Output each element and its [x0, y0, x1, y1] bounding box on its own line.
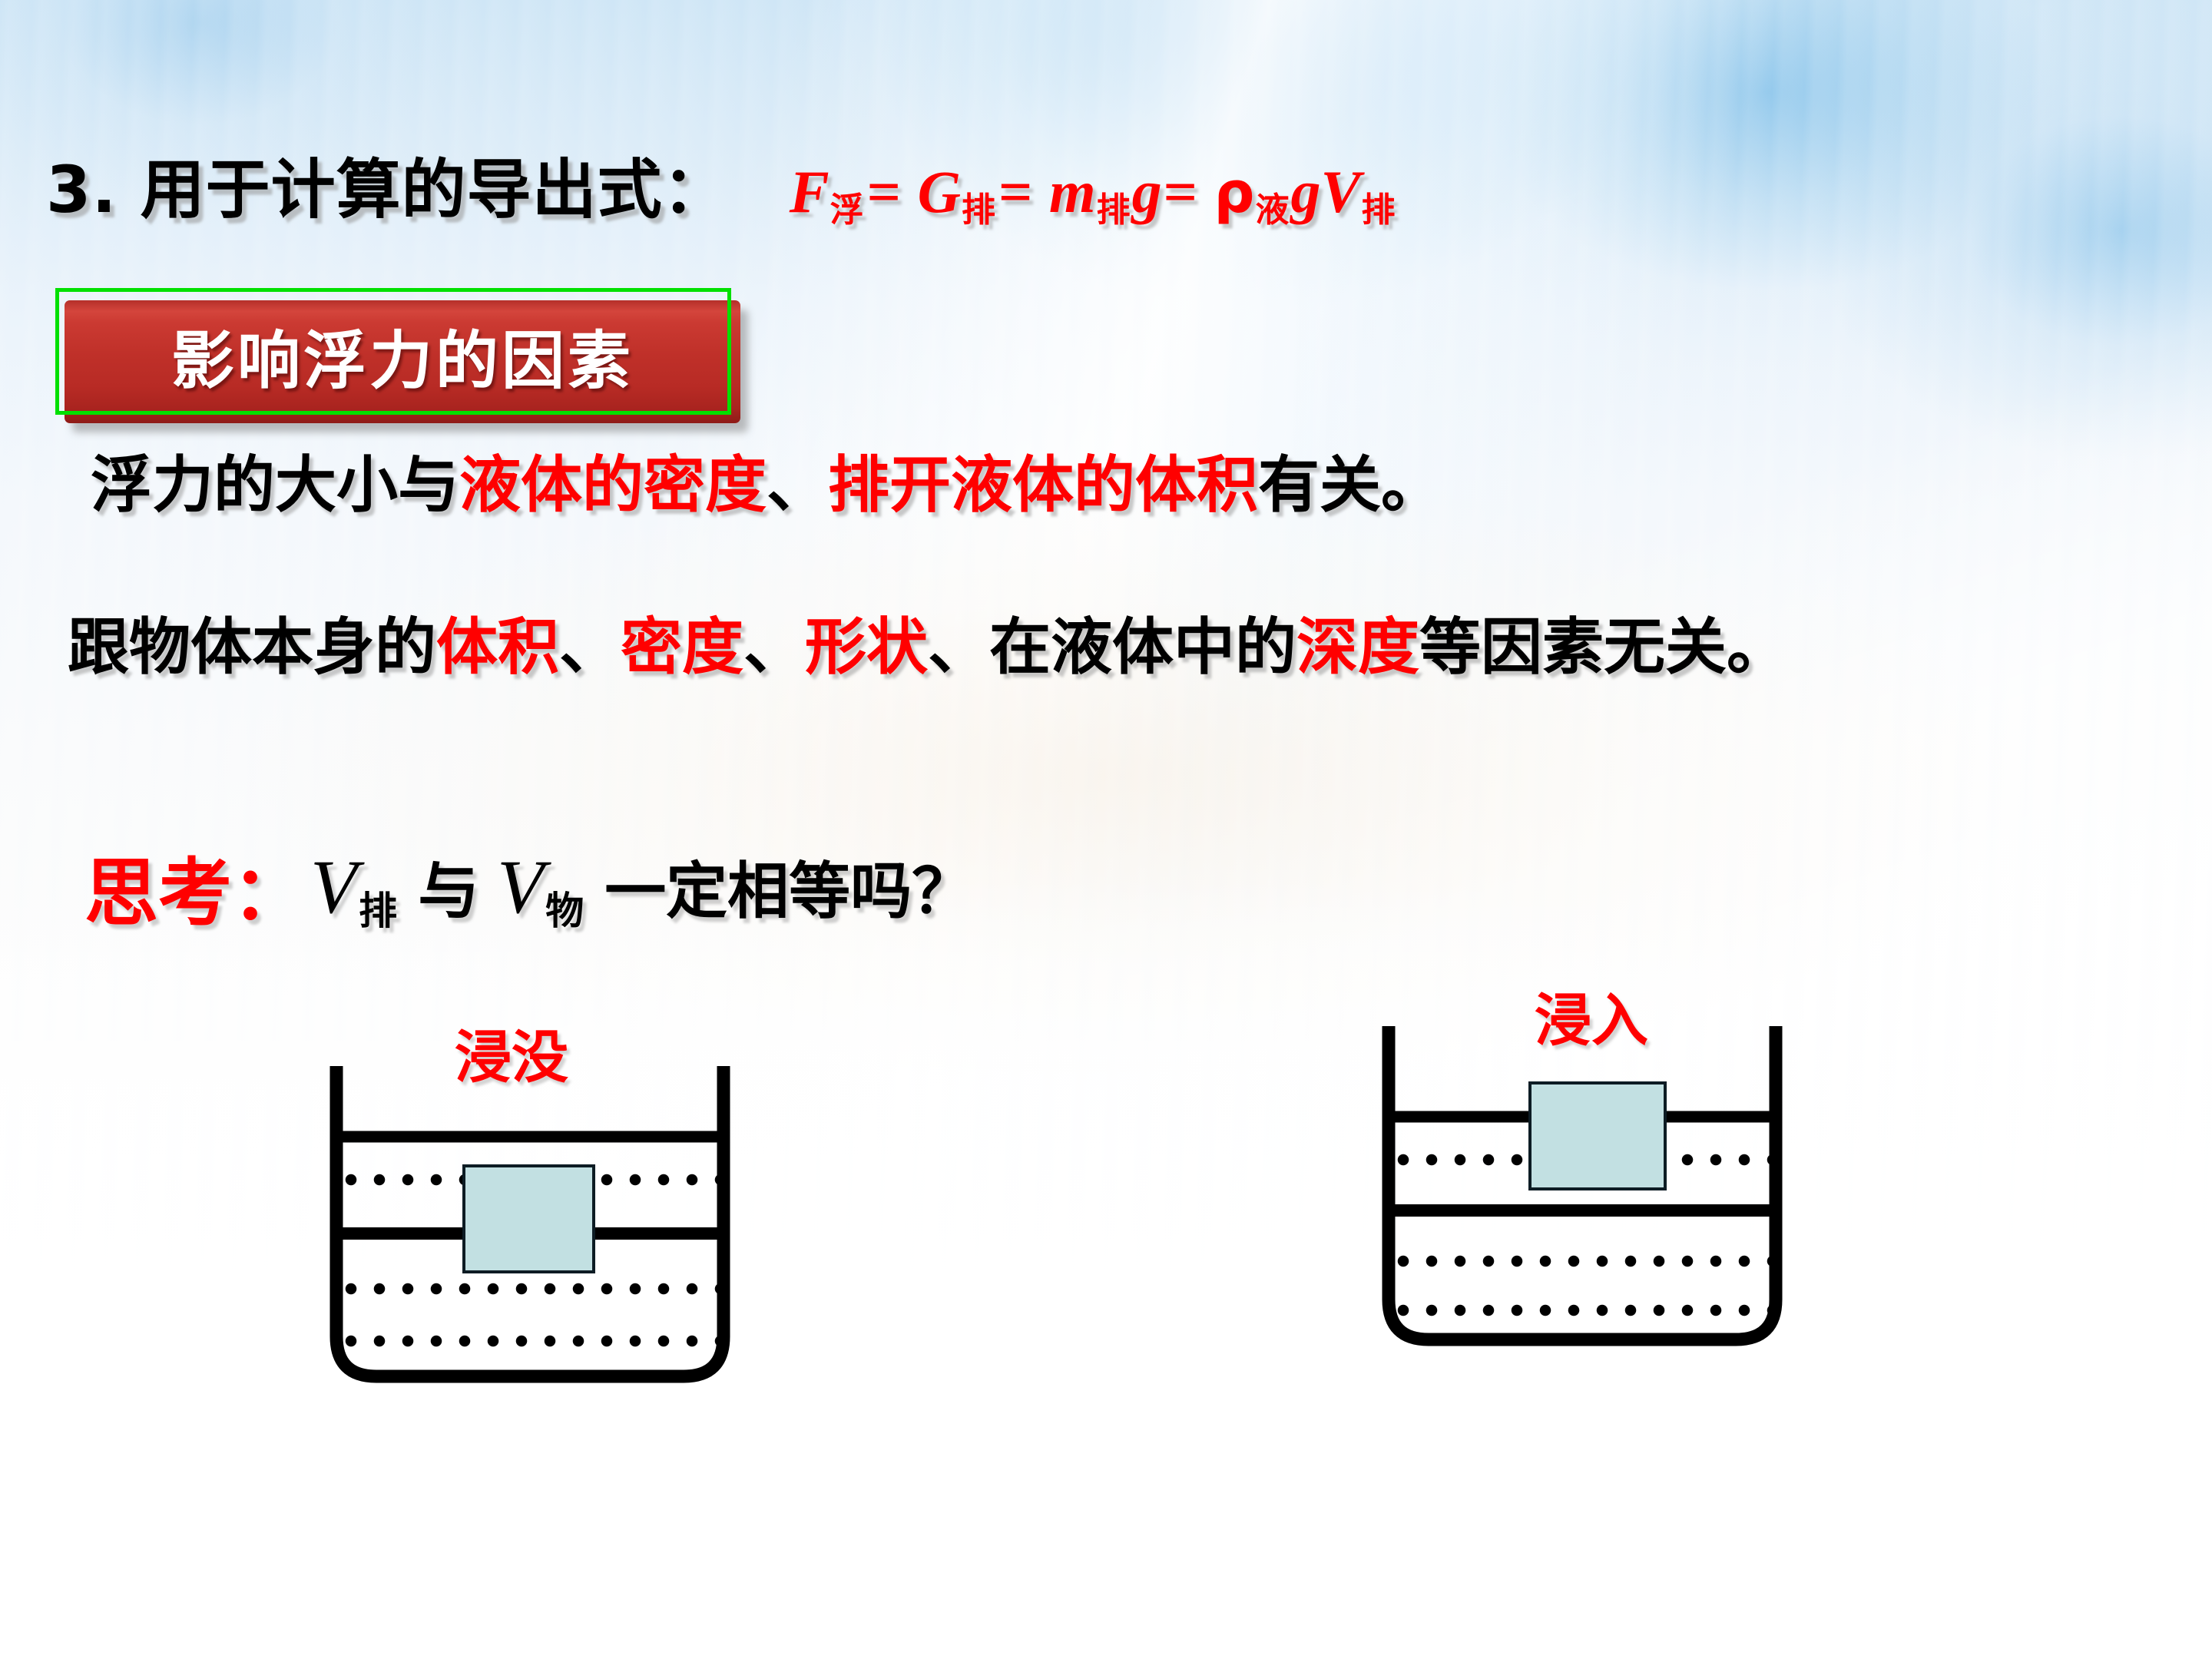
- liquid-dotted-row-4: [344, 1335, 717, 1347]
- segment: 、: [559, 611, 621, 683]
- think-question-row: 思考： V排 与 V物 一定相等吗？: [84, 849, 973, 930]
- liquid-dotted-row-4: [1396, 1304, 1770, 1316]
- formula-G-subscript: 排: [962, 190, 995, 230]
- segment: 跟物体本身的: [68, 611, 436, 683]
- formula-F: F: [790, 158, 829, 225]
- segment: 等因素无关。: [1419, 611, 1788, 683]
- formula-equals-1: =: [867, 158, 901, 225]
- liquid-dotted-row-3: [1396, 1255, 1770, 1267]
- plaque-green-outline: [55, 288, 731, 415]
- formula-m: m: [1049, 158, 1096, 225]
- formula-V-subscript: 排: [1362, 190, 1396, 230]
- heading-row: 3. 用于计算的导出式： F浮= G排= m排g= ρ液gV排: [46, 157, 1397, 227]
- liquid-dotted-row-3: [344, 1283, 717, 1295]
- slide-canvas: 3. 用于计算的导出式： F浮= G排= m排g= ρ液gV排 影响浮力的因素 …: [0, 0, 2212, 1659]
- segment: 、: [767, 449, 828, 521]
- segment-highlight: 液体的密度: [459, 449, 767, 521]
- segment: 有关。: [1258, 449, 1442, 521]
- section-title-plaque: 影响浮力的因素: [55, 288, 731, 415]
- beaker-stage-right: 浸入: [1375, 1014, 1851, 1390]
- formula-equals-3: =: [1164, 158, 1197, 225]
- statement-line-2: 跟物体本身的体积、密度、形状、在液体中的深度等因素无关。: [68, 617, 1788, 678]
- formula-V: V: [1321, 158, 1361, 225]
- segment-highlight: 排开液体的体积: [828, 449, 1258, 521]
- segment-highlight: 形状: [805, 611, 928, 683]
- think-V2-subscript: 物: [545, 889, 584, 933]
- beaker-stage-left: 浸没: [323, 1029, 799, 1406]
- liquid-dotted-row-2: [1392, 1204, 1773, 1217]
- figure-partially-submerged: 浸入 V排<V物: [1375, 1014, 1851, 1582]
- formula-equals-2: =: [998, 158, 1032, 225]
- figure-fully-submerged: 浸没 V排=V物: [323, 1029, 799, 1598]
- statement-line-1: 浮力的大小与液体的密度、排开液体的体积有关。: [91, 455, 1442, 516]
- segment-highlight: 体积: [436, 611, 559, 683]
- formula-rho-subscript: 液: [1256, 190, 1290, 230]
- submerged-block-left: [462, 1164, 595, 1273]
- segment: 、在液体中的: [928, 611, 1296, 683]
- formula-g-1: g: [1132, 158, 1162, 225]
- floating-block-right: [1528, 1081, 1667, 1190]
- think-label: 思考：: [84, 856, 306, 930]
- segment-highlight: 密度: [621, 611, 743, 683]
- beaker-outline-right: [1375, 1014, 1805, 1390]
- formula-G: G: [918, 158, 961, 225]
- section-heading: 3. 用于计算的导出式：: [46, 157, 728, 222]
- think-tail: 一定相等吗？: [604, 856, 973, 927]
- segment: 、: [743, 611, 805, 683]
- formula-F-subscript: 浮: [830, 190, 864, 230]
- think-V1: V: [310, 844, 357, 929]
- think-V1-subscript: 排: [359, 889, 397, 933]
- formula-m-subscript: 排: [1097, 190, 1131, 230]
- segment-highlight: 深度: [1296, 611, 1419, 683]
- segment: 浮力的大小与: [91, 449, 459, 521]
- think-conj: 与: [418, 856, 479, 927]
- buoyancy-formula: F浮= G排= m排g= ρ液gV排: [790, 162, 1397, 227]
- formula-rho: ρ: [1214, 160, 1255, 226]
- formula-g-2: g: [1291, 158, 1321, 225]
- think-V2: V: [497, 844, 544, 929]
- think-expression: V排 与 V物 一定相等吗？: [310, 849, 973, 930]
